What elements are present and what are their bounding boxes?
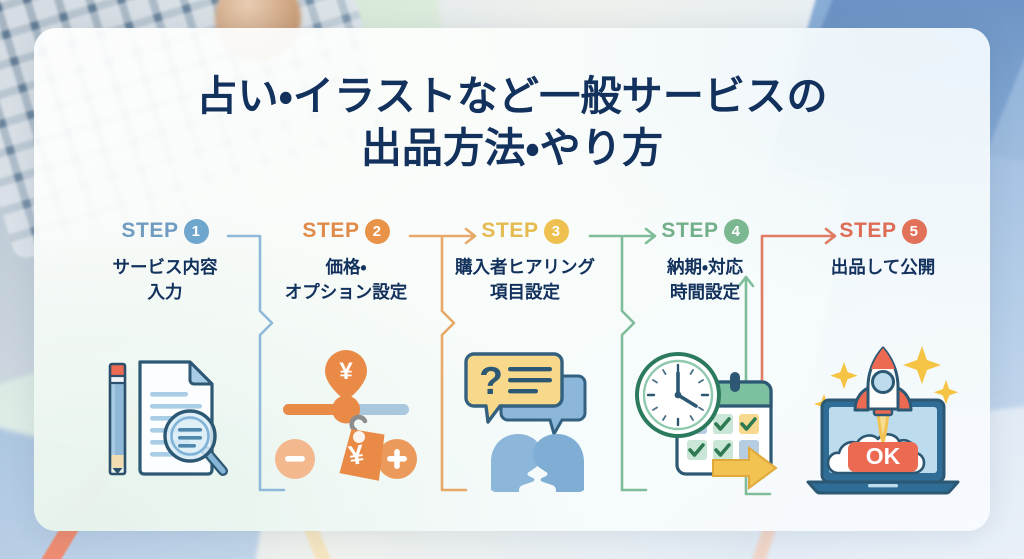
page-title: 占い・イラストなど一般サービスの 出品方法・やり方 (34, 70, 990, 175)
step-4-word: STEP (661, 219, 718, 243)
title-line-1: 占い・イラストなど一般サービスの (196, 73, 827, 119)
step-2-badge: 2 (365, 219, 390, 244)
step-item-4[interactable]: STEP 4 納期・対応 時間設定 (616, 216, 794, 516)
chat-question-icon: ? (450, 342, 600, 492)
step-3-badge: 3 (544, 219, 569, 244)
step-item-1[interactable]: STEP 1 サービス内容 入力 (76, 216, 254, 516)
ok-button: OK (848, 442, 918, 472)
question-mark-glyph: ? (479, 360, 503, 403)
step-5-badge: 5 (902, 219, 927, 244)
yen-pin: ¥ (325, 350, 367, 401)
step-3-heading: STEP 3 (436, 216, 614, 246)
step-4-badge: 4 (724, 219, 749, 244)
step-list: STEP 1 サービス内容 入力 (76, 216, 956, 516)
step-item-2[interactable]: STEP 2 価格・ オプション設定 ¥ (257, 216, 435, 516)
step-1-label: サービス内容 入力 (76, 255, 254, 304)
step-item-3[interactable]: STEP 3 購入者ヒアリング 項目設定 ? (436, 216, 614, 516)
ok-button-text: OK (866, 443, 901, 469)
step-1-word: STEP (121, 219, 178, 243)
step-4-icon-wrap (616, 334, 794, 499)
step-5-icon-wrap: OK (794, 334, 972, 499)
rocket (855, 348, 911, 415)
step-3-word: STEP (481, 219, 538, 243)
step-2-word: STEP (302, 219, 359, 243)
minus-button (275, 439, 315, 479)
content-card: 占い・イラストなど一般サービスの 出品方法・やり方 (34, 28, 990, 531)
step-2-heading: STEP 2 (257, 216, 435, 246)
rocket-launch-icon: OK (804, 338, 962, 496)
svg-text:¥: ¥ (339, 358, 353, 385)
step-4-label: 納期・対応 時間設定 (616, 255, 794, 304)
step-5-label: 出品して公開 (794, 255, 972, 280)
step-2-label: 価格・ オプション設定 (257, 255, 435, 304)
price-slider-icon: ¥ (271, 342, 421, 492)
step-1-badge: 1 (184, 219, 209, 244)
step-1-heading: STEP 1 (76, 216, 254, 246)
step-3-icon-wrap: ? (436, 334, 614, 499)
step-5-heading: STEP 5 (794, 216, 972, 246)
slider-track (283, 395, 409, 423)
step-3-label: 購入者ヒアリング 項目設定 (436, 255, 614, 304)
step-4-heading: STEP 4 (616, 216, 794, 246)
title-line-2: 出品方法・やり方 (34, 122, 990, 174)
price-tag: ¥ (334, 417, 391, 486)
clock-calendar-icon (629, 342, 781, 492)
person-head-left (491, 434, 542, 492)
clock (637, 354, 719, 436)
infographic-banner: 占い・イラストなど一般サービスの 出品方法・やり方 (0, 0, 1024, 559)
step-2-icon-wrap: ¥ (257, 334, 435, 499)
document-search-icon (90, 342, 240, 492)
step-5-word: STEP (839, 219, 896, 243)
person-head-right (533, 434, 584, 492)
step-1-icon-wrap (76, 334, 254, 499)
step-item-5[interactable]: STEP 5 出品して公開 (794, 216, 972, 516)
